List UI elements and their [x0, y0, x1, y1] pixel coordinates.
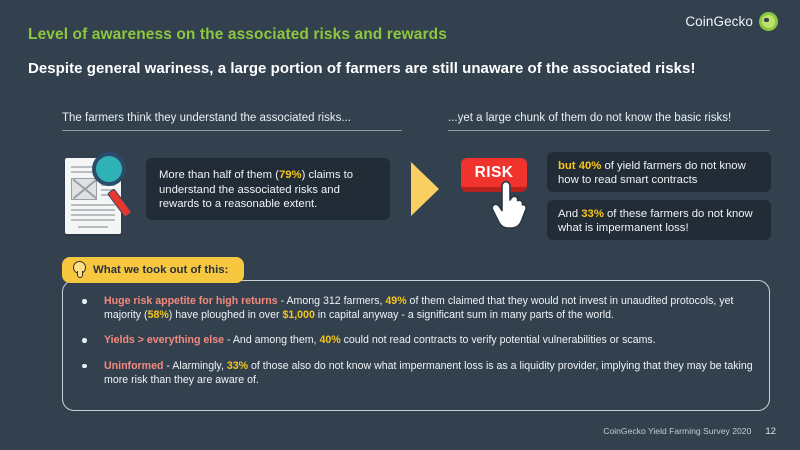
left-text-before: More than half of them ( — [159, 169, 279, 181]
right-stat-text-2: And 33% of these farmers do not know wha… — [558, 207, 760, 236]
page-number: 12 — [765, 426, 776, 437]
right-stat-value-2: 33% — [581, 208, 604, 220]
right-stat-card-2: And 33% of these farmers do not know wha… — [547, 200, 771, 240]
list-item: Huge risk appetite for high returns - Am… — [76, 294, 760, 322]
takeaway-tab-label: What we took out of this: — [93, 264, 228, 276]
bullet-dot-icon — [82, 299, 87, 304]
left-stat-card: More than half of them (79%) claims to u… — [146, 158, 390, 220]
brand-logo: CoinGecko — [685, 12, 778, 31]
bullet-title-1: Huge risk appetite for high returns — [104, 295, 278, 307]
right-column-heading: ...yet a large chunk of them do not know… — [448, 112, 770, 131]
bullet-seg1-1: - Among 312 farmers, — [278, 295, 386, 307]
page-subtitle: Despite general wariness, a large portio… — [28, 60, 696, 77]
right-text-before-1: but — [558, 160, 579, 172]
bullet-dot-icon — [82, 338, 87, 343]
left-stat-value: 79% — [279, 169, 302, 181]
bullet-seg1-3: - Alarmingly, — [163, 360, 226, 372]
list-item: Uninformed - Alarmingly, 33% of those al… — [76, 359, 760, 387]
takeaway-bullet-list: Huge risk appetite for high returns - Am… — [76, 294, 760, 398]
gecko-icon — [759, 12, 778, 31]
list-item: Yields > everything else - And among the… — [76, 333, 760, 347]
bullet-stat3-1: $1,000 — [282, 309, 314, 321]
bullet-stat1-2: 40% — [319, 334, 340, 346]
bullet-seg4-1: in capital anyway - a significant sum in… — [315, 309, 614, 321]
bullet-title-3: Uninformed — [104, 360, 163, 372]
risk-button-illustration: RISK — [461, 158, 541, 234]
hand-pointer-icon — [489, 180, 529, 232]
page-title: Level of awareness on the associated ris… — [28, 26, 447, 44]
takeaway-tab: What we took out of this: — [62, 257, 244, 283]
footer-source: CoinGecko Yield Farming Survey 2020 — [603, 426, 751, 436]
right-stat-value-1: 40% — [579, 160, 602, 172]
footer: CoinGecko Yield Farming Survey 2020 12 — [603, 426, 776, 437]
bullet-stat2-1: 58% — [148, 309, 169, 321]
bullet-dot-icon — [82, 364, 87, 369]
bullet-stat1-1: 49% — [385, 295, 406, 307]
bullet-stat1-3: 33% — [227, 360, 248, 372]
right-arrow-icon — [411, 162, 439, 216]
right-text-before-2: And — [558, 208, 581, 220]
bullet-seg3-1: ) have ploughed in over — [169, 309, 283, 321]
left-stat-text: More than half of them (79%) claims to u… — [159, 168, 377, 212]
bullet-title-2: Yields > everything else — [104, 334, 224, 346]
right-stat-card-1: but 40% of yield farmers do not know how… — [547, 152, 771, 192]
bullet-seg1-2: - And among them, — [224, 334, 319, 346]
brand-name: CoinGecko — [685, 14, 753, 29]
left-column-heading: The farmers think they understand the as… — [62, 112, 402, 131]
bullet-seg2-2: could not read contracts to verify poten… — [341, 334, 656, 346]
document-magnifier-icon — [62, 152, 132, 238]
right-stat-text-1: but 40% of yield farmers do not know how… — [558, 159, 760, 188]
slide: CoinGecko Level of awareness on the asso… — [0, 0, 800, 450]
lightbulb-icon — [73, 261, 86, 279]
